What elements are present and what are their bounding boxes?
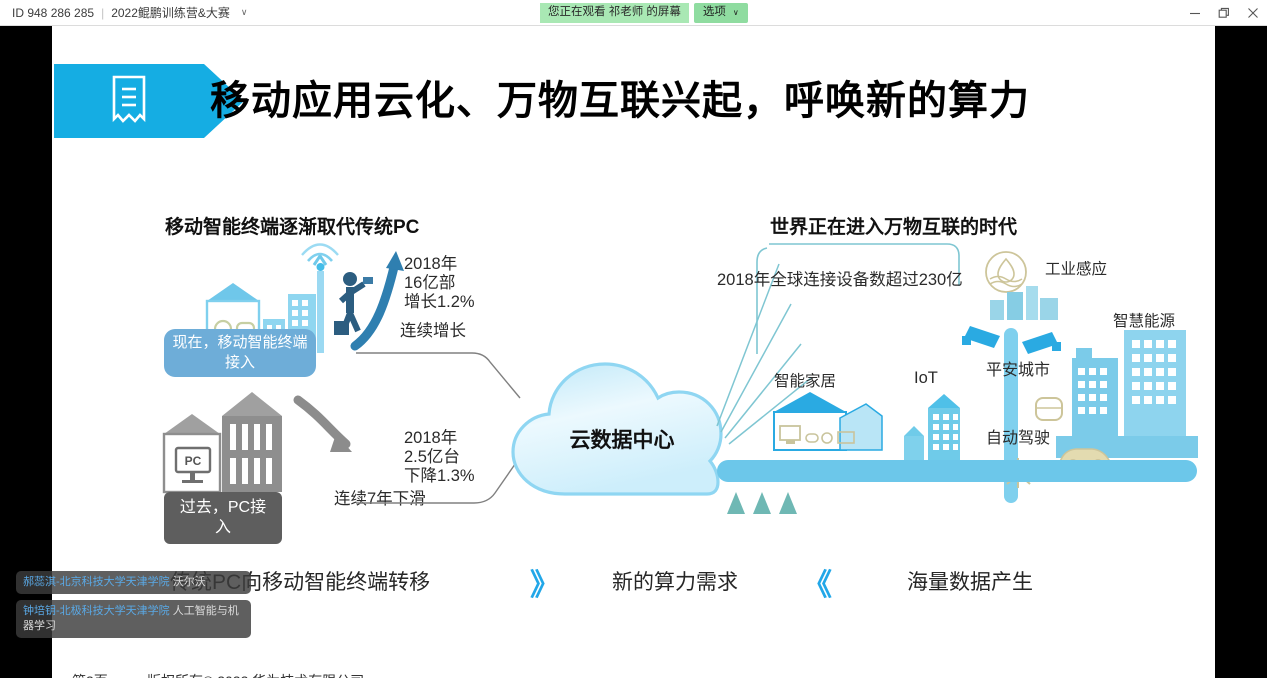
chat-overlay: 郝蕊淇-北京科技大学天津学院 沃尔沃 钟培钥-北极科技大学天津学院 人工智能与机… [16, 571, 251, 644]
label-industrial-sensing: 工业感应 [1045, 257, 1107, 279]
meeting-id: ID 948 286 285 [12, 6, 94, 20]
bottom-item-2: 新的算力需求 [612, 566, 738, 596]
document-icon [54, 64, 204, 138]
titlebar-separator: | [101, 6, 104, 20]
share-options-label: 选项 [703, 6, 726, 19]
chevron-down-icon[interactable]: ∨ [241, 7, 248, 18]
chevron-right-icon: 》 [530, 560, 554, 604]
share-options-button[interactable]: 选项 ∨ [694, 3, 748, 23]
cloud-datacenter-label: 云数据中心 [507, 424, 737, 454]
chat-text: 沃尔沃 [173, 576, 206, 588]
chat-message: 郝蕊淇-北京科技大学天津学院 沃尔沃 [16, 571, 251, 594]
svg-text:PC: PC [185, 454, 202, 468]
restore-icon[interactable] [1209, 0, 1238, 26]
copyright-notice: 版权所有© 2022 华为技术有限公司 [147, 671, 364, 678]
window-controls [1180, 0, 1267, 26]
minimize-icon[interactable] [1180, 0, 1209, 26]
label-autonomous-driving: 自动驾驶 [986, 424, 1050, 448]
page-number: 第3页 [72, 671, 108, 678]
mobile-access-badge: 现在，移动智能终端 接入 [164, 329, 316, 377]
pc-to-cloud-connector [352, 441, 532, 511]
sharing-notice: 您正在观看 祁老师 的屏幕 [540, 3, 689, 23]
chevron-left-icon: 《 [802, 560, 826, 604]
window-titlebar: ID 948 286 285 | 2022鲲鹏训练营&大赛 ∨ 您正在观看 祁老… [0, 0, 1267, 26]
chat-sender: 郝蕊淇-北京科技大学天津学院 [23, 576, 170, 588]
close-icon[interactable] [1238, 0, 1267, 26]
label-safe-city: 平安城市 [986, 356, 1050, 380]
tree-row-icon [717, 481, 837, 516]
chevron-down-icon: ∨ [733, 6, 739, 19]
page-title: 移动应用云化、万物互联兴起，呼唤新的算力 [210, 76, 1200, 126]
label-iot: IoT [914, 369, 938, 388]
chat-sender: 钟培钥-北极科技大学天津学院 [23, 605, 170, 617]
global-connections-note: 2018年全球连接设备数超过230亿 [717, 266, 963, 290]
pc-access-badge: 过去，PC接入 [164, 492, 282, 544]
smart-home-icon [770, 388, 885, 452]
shared-screen-stage: 移动应用云化、万物互联兴起，呼唤新的算力 移动智能终端逐渐取代传统PC [0, 26, 1267, 678]
left-section-heading: 移动智能终端逐渐取代传统PC [165, 212, 419, 239]
connection-road-bar [717, 460, 1197, 482]
chat-message: 钟培钥-北极科技大学天津学院 人工智能与机器学习 [16, 600, 251, 638]
vehicle-top-icon [1030, 394, 1090, 424]
meeting-name: 2022鲲鹏训练营&大赛 [111, 4, 230, 21]
titlebar-left-group: ID 948 286 285 | 2022鲲鹏训练营&大赛 ∨ [0, 4, 248, 21]
left-stat-change: 增长1.2% [404, 288, 475, 312]
bottom-item-3: 海量数据产生 [907, 566, 1033, 596]
screen-share-banner: 您正在观看 祁老师 的屏幕 选项 ∨ [540, 3, 748, 23]
